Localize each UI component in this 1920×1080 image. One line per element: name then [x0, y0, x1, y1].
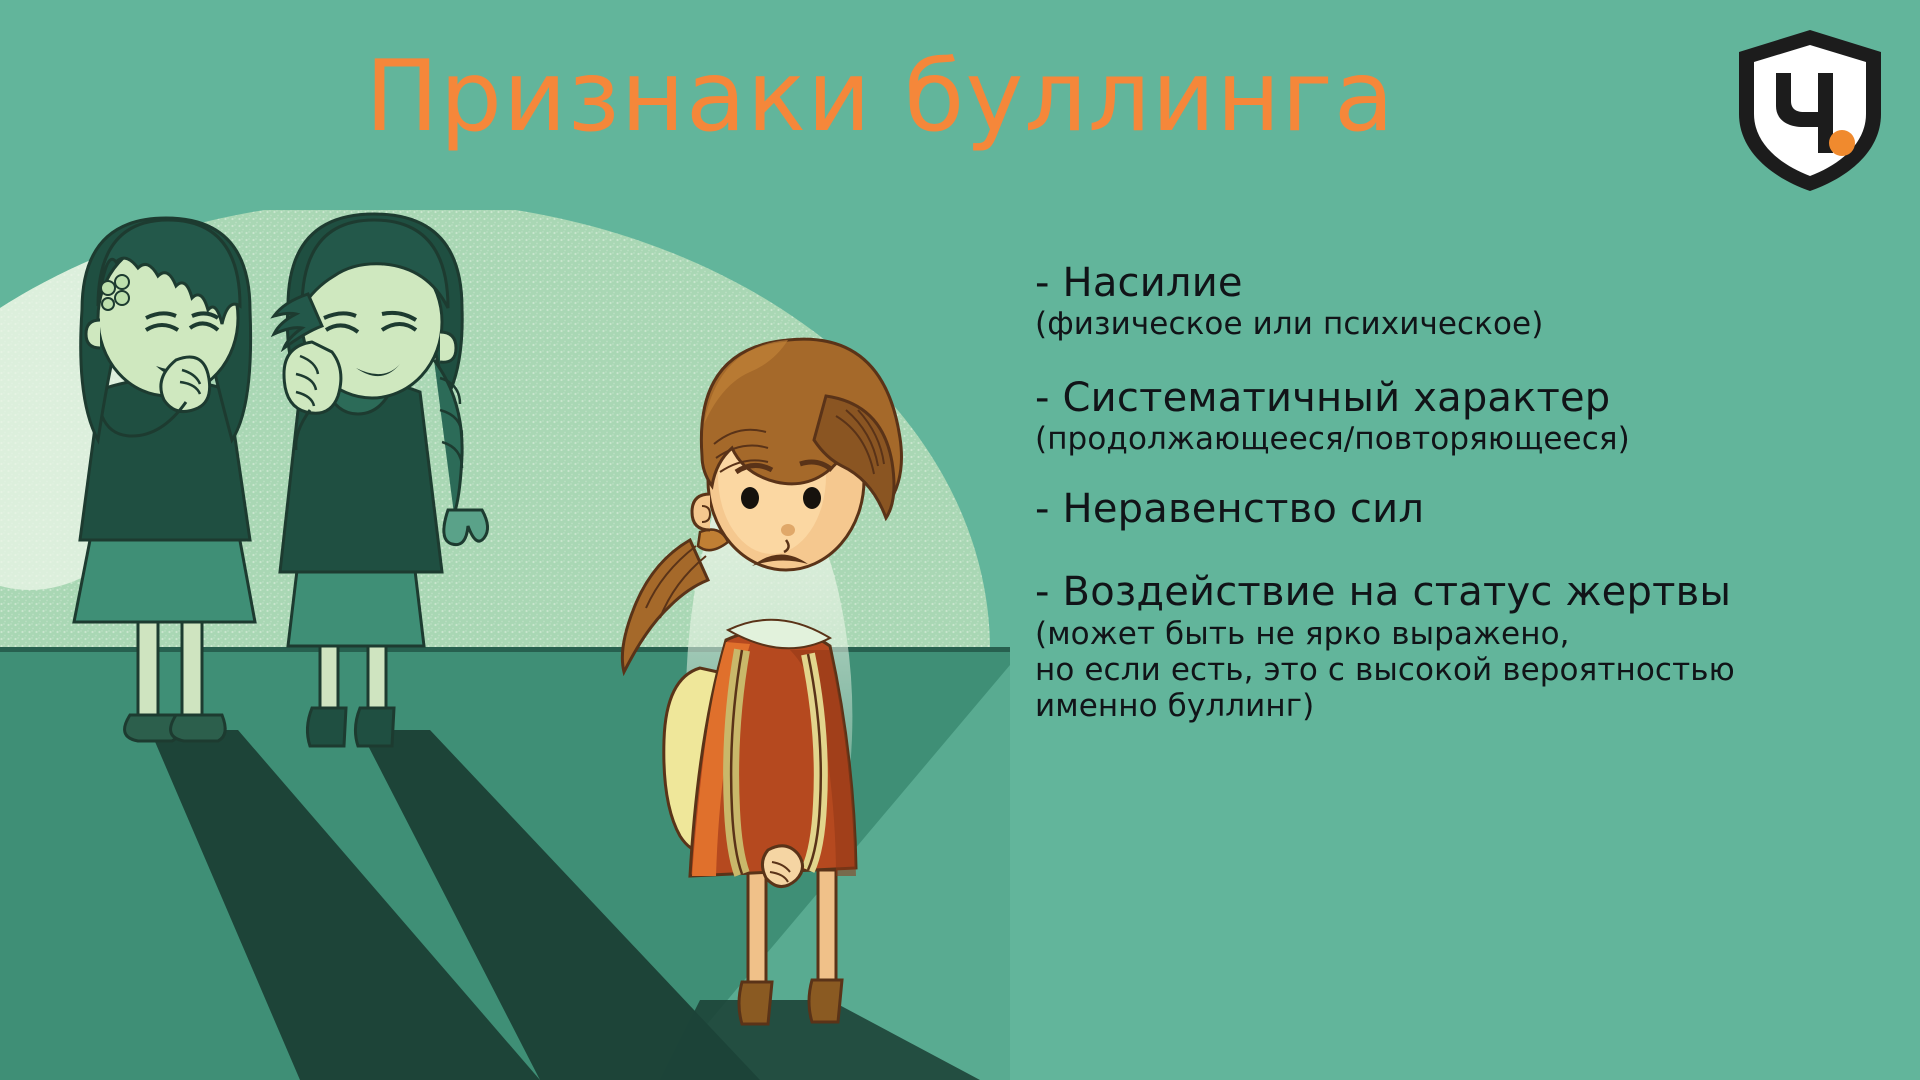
bullet-heading: - Неравенство сил: [1035, 488, 1875, 531]
list-item: - Неравенство сил: [1035, 488, 1875, 531]
page-title: Признаки буллинга: [0, 48, 1920, 146]
bullet-subtext-line: но если есть, это с высокой вероятностью: [1035, 653, 1875, 689]
bullet-subtext-line: (может быть не ярко выражено,: [1035, 617, 1875, 653]
bullet-subtext: (может быть не ярко выражено, но если ес…: [1035, 617, 1875, 725]
bullet-heading: - Систематичный характер: [1035, 377, 1875, 420]
bullet-heading: - Воздействие на статус жертвы: [1035, 571, 1875, 614]
bullying-illustration: [0, 210, 1010, 1080]
shield-logo[interactable]: [1735, 28, 1885, 193]
bullet-subtext: (физическое или психическое): [1035, 307, 1875, 343]
bullet-subtext-line: именно буллинг): [1035, 689, 1875, 725]
bullet-subtext: (продолжающееся/повторяющееся): [1035, 422, 1875, 458]
eye-left: [741, 487, 759, 509]
signs-list: - Насилие (физическое или психическое) -…: [1035, 262, 1875, 725]
eye-right: [803, 487, 821, 509]
bullet-heading: - Насилие: [1035, 262, 1875, 305]
bullet-subtext-line: (физическое или психическое): [1035, 307, 1875, 343]
list-item: - Воздействие на статус жертвы (может бы…: [1035, 571, 1875, 724]
slide-root: Признаки буллинга: [0, 0, 1920, 1080]
list-item: - Насилие (физическое или психическое): [1035, 262, 1875, 343]
orange-dot-icon: [1829, 130, 1855, 156]
bullet-subtext-line: (продолжающееся/повторяющееся): [1035, 422, 1875, 458]
list-item: - Систематичный характер (продолжающееся…: [1035, 377, 1875, 458]
